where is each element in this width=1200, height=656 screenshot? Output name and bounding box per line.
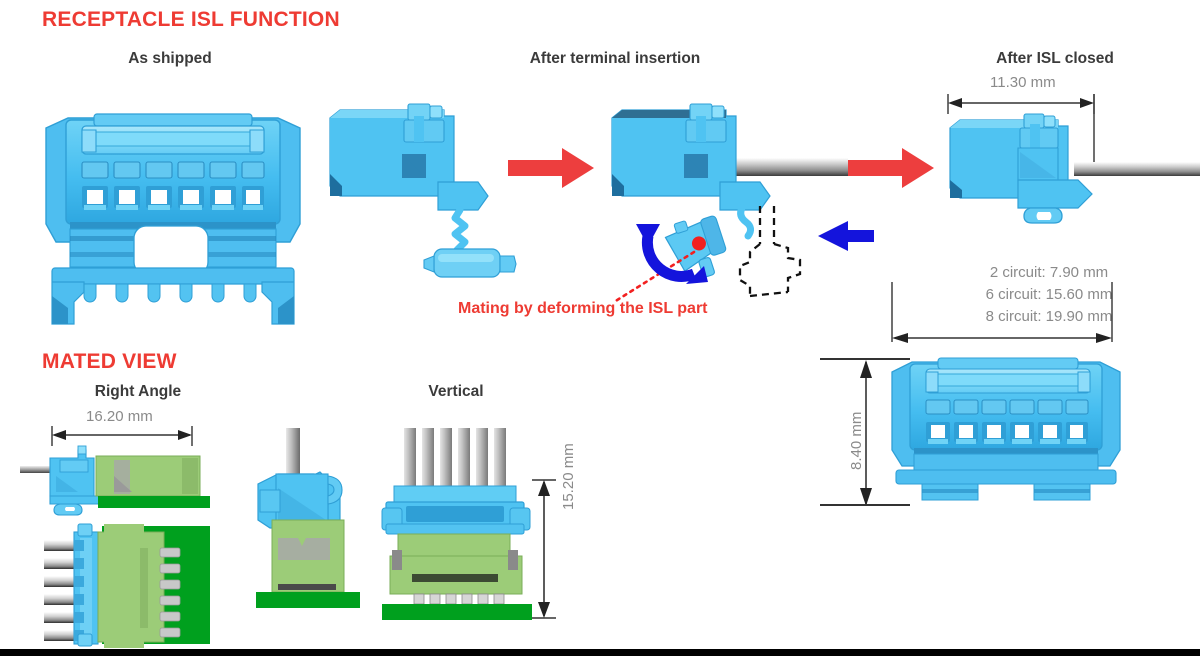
- step-label-after-isl-closed: After ISL closed: [930, 50, 1180, 68]
- figure-right-angle-section: [0, 518, 210, 648]
- step-label-after-terminal-insertion: After terminal insertion: [390, 50, 840, 68]
- circuit-width-option-2: 2 circuit: 7.90 mm: [944, 264, 1154, 281]
- view-label-vertical: Vertical: [370, 383, 542, 401]
- section-title-mated-view: MATED VIEW: [42, 350, 177, 374]
- note-mating-by-deforming: Mating by deforming the ISL part: [458, 300, 708, 318]
- view-label-right-angle: Right Angle: [48, 383, 228, 401]
- figure-front-view-connector: [886, 348, 1126, 512]
- dimension-arrow-circuit-width: [890, 282, 1116, 348]
- blue-push-arrow: [818, 221, 874, 251]
- dimension-arrow-11-30: [946, 92, 1106, 114]
- bottom-bar: [0, 649, 1200, 656]
- step-label-as-shipped: As shipped: [50, 50, 290, 68]
- dimension-label-11-30: 11.30 mm: [990, 74, 1056, 91]
- figure-vertical-side: [244, 428, 364, 618]
- figure-after-isl-closed: [946, 112, 1200, 224]
- red-arrow-1: [508, 146, 596, 190]
- dimension-arrow-15-20: [530, 478, 556, 620]
- dimension-label-8-40: 8.40 mm: [848, 412, 865, 470]
- figure-right-angle-side: [20, 440, 216, 508]
- figure-after-shipped-side: [326, 104, 526, 284]
- dimension-label-16-20: 16.20 mm: [86, 408, 153, 425]
- figure-vertical-front: [382, 428, 532, 620]
- dimension-label-15-20: 15.20 mm: [560, 443, 577, 510]
- red-arrow-2: [848, 146, 936, 190]
- section-title-receptacle-isl-function: RECEPTACLE ISL FUNCTION: [42, 8, 340, 32]
- figure-as-shipped: [38, 96, 308, 326]
- figure-after-terminal-insertion: [608, 104, 848, 304]
